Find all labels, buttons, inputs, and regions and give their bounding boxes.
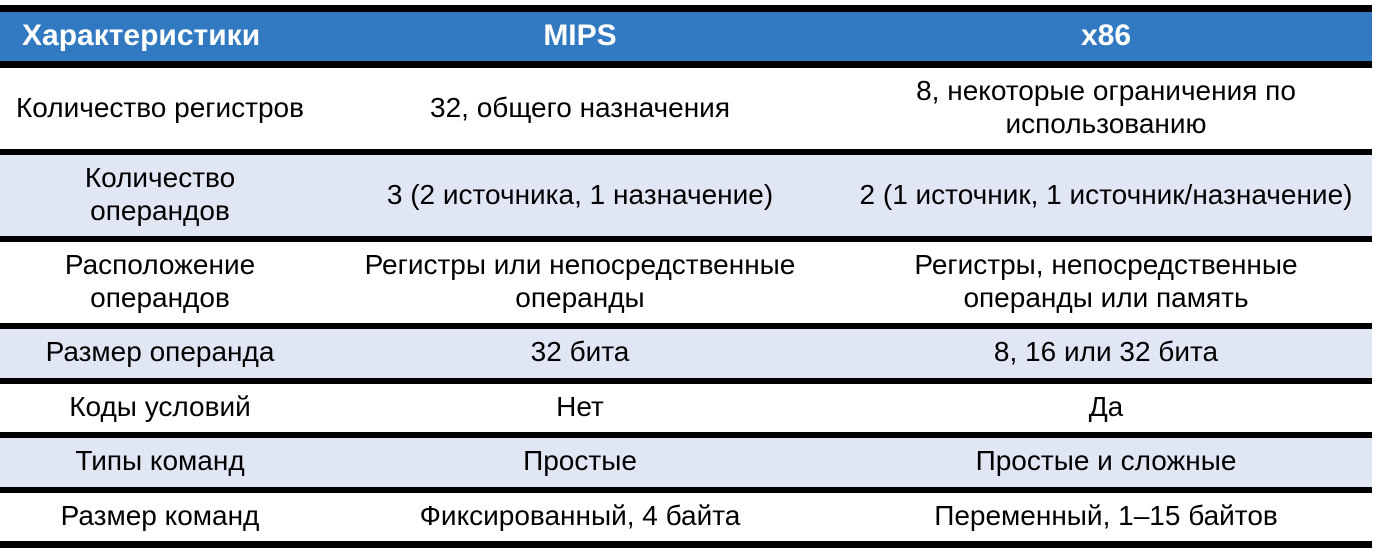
cell-feature-text: Расположение операндов	[14, 249, 306, 314]
cell-mips: Фиксированный, 4 байта	[320, 490, 840, 545]
table-row: Количество операндов 3 (2 источника, 1 н…	[0, 152, 1372, 239]
cell-x86: Регистры, непосредственные операнды или …	[840, 239, 1372, 326]
column-header-mips: MIPS	[320, 9, 840, 65]
cell-mips: 32, общего назначения	[320, 65, 840, 152]
slide-canvas: Характеристики MIPS x86 Количество регис…	[0, 0, 1380, 554]
cell-x86-text: 8, 16 или 32 бита	[852, 336, 1360, 368]
table-body: Количество регистров 32, общего назначен…	[0, 65, 1372, 545]
cell-feature: Количество операндов	[0, 152, 320, 239]
cell-x86: 8, 16 или 32 бита	[840, 326, 1372, 380]
cell-x86-text: Да	[852, 391, 1360, 423]
cell-mips: 32 бита	[320, 326, 840, 380]
cell-feature-text: Количество операндов	[14, 162, 306, 227]
table-row: Типы команд Простые Простые и сложные	[0, 435, 1372, 489]
cell-feature-text: Размер операнда	[14, 336, 306, 368]
cell-x86-text: Регистры, непосредственные операнды или …	[852, 249, 1360, 314]
header-row: Характеристики MIPS x86	[0, 9, 1372, 65]
mips-vs-x86-comparison-table: Характеристики MIPS x86 Количество регис…	[0, 5, 1372, 548]
cell-mips: Простые	[320, 435, 840, 489]
table-row: Количество регистров 32, общего назначен…	[0, 65, 1372, 152]
column-header-x86: x86	[840, 9, 1372, 65]
column-header-feature: Характеристики	[0, 9, 320, 65]
cell-x86-text: Переменный, 1–15 байтов	[852, 500, 1360, 532]
cell-feature-text: Количество регистров	[14, 92, 306, 124]
cell-feature-text: Коды условий	[14, 391, 306, 423]
cell-x86: 8, некоторые ограничения по использовани…	[840, 65, 1372, 152]
table-row: Размер операнда 32 бита 8, 16 или 32 бит…	[0, 326, 1372, 380]
table-header: Характеристики MIPS x86	[0, 9, 1372, 65]
cell-feature-text: Типы команд	[14, 445, 306, 477]
cell-mips: Нет	[320, 381, 840, 435]
cell-x86-text: 8, некоторые ограничения по использовани…	[852, 75, 1360, 140]
cell-x86: Да	[840, 381, 1372, 435]
cell-mips: Регистры или непосредственные операнды	[320, 239, 840, 326]
cell-mips-text: Простые	[332, 445, 828, 477]
table-row: Размер команд Фиксированный, 4 байта Пер…	[0, 490, 1372, 545]
cell-mips-text: Нет	[332, 391, 828, 423]
cell-mips-text: Фиксированный, 4 байта	[332, 500, 828, 532]
cell-feature: Типы команд	[0, 435, 320, 489]
cell-mips-text: Регистры или непосредственные операнды	[332, 249, 828, 314]
cell-mips-text: 32, общего назначения	[332, 92, 828, 124]
cell-x86: Переменный, 1–15 байтов	[840, 490, 1372, 545]
cell-mips-text: 32 бита	[332, 336, 828, 368]
cell-mips-text: 3 (2 источника, 1 назначение)	[332, 179, 828, 211]
cell-feature: Коды условий	[0, 381, 320, 435]
cell-feature-text: Размер команд	[14, 500, 306, 532]
cell-feature: Расположение операндов	[0, 239, 320, 326]
cell-feature: Размер команд	[0, 490, 320, 545]
cell-x86: 2 (1 источник, 1 источник/назначение)	[840, 152, 1372, 239]
table-row: Коды условий Нет Да	[0, 381, 1372, 435]
table-row: Расположение операндов Регистры или непо…	[0, 239, 1372, 326]
cell-mips: 3 (2 источника, 1 назначение)	[320, 152, 840, 239]
cell-feature: Размер операнда	[0, 326, 320, 380]
cell-x86-text: Простые и сложные	[852, 445, 1360, 477]
cell-feature: Количество регистров	[0, 65, 320, 152]
cell-x86-text: 2 (1 источник, 1 источник/назначение)	[852, 179, 1360, 211]
cell-x86: Простые и сложные	[840, 435, 1372, 489]
